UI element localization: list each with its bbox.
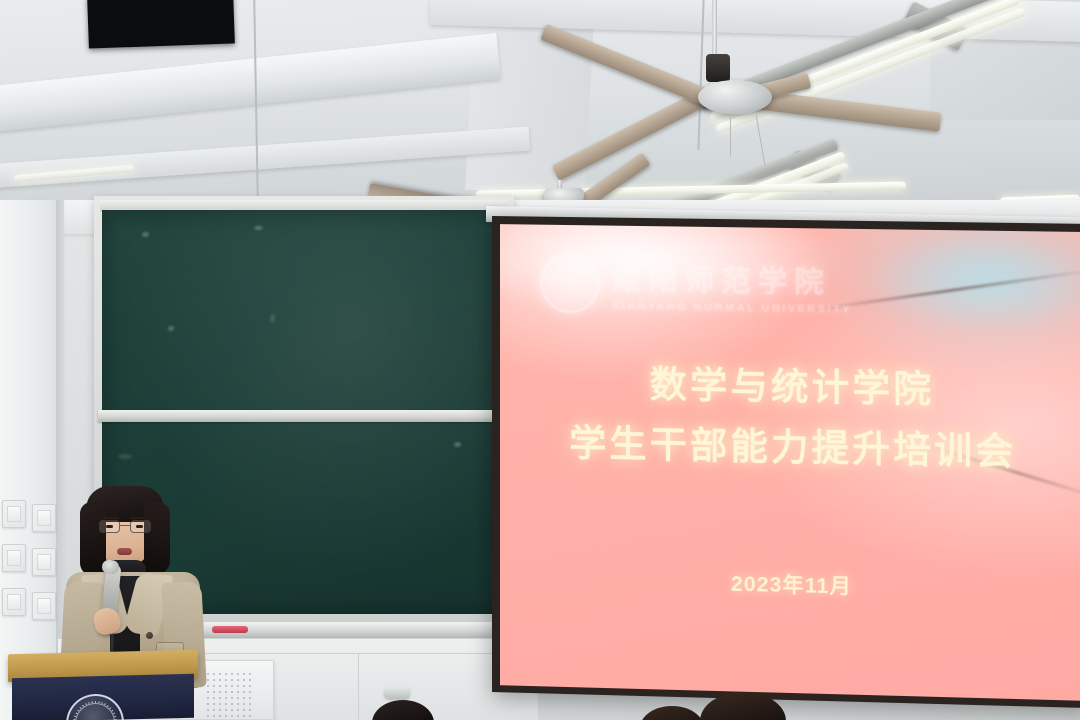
- switch-rocker[interactable]: [7, 506, 20, 523]
- light-switch-plate[interactable]: [2, 500, 26, 528]
- slide-title-block: 数学与统计学院 学生干部能力提升培训会: [500, 352, 1080, 484]
- screen-glare: [862, 229, 1080, 336]
- ceiling-mounted-dark-panel: [87, 0, 235, 49]
- slide-title-line-1: 数学与统计学院: [500, 352, 1080, 423]
- seal-ring-detail: [73, 700, 117, 720]
- university-seal-icon: [540, 253, 600, 314]
- slide-date: 2023年11月: [500, 562, 1080, 606]
- eye-left: [106, 525, 113, 528]
- fan-down-rod: [712, 0, 717, 58]
- institution-name-cn: 咸阳师范学院: [612, 256, 852, 302]
- blackboard-middle-rail: [98, 410, 510, 422]
- institution-name-en: XIANYANG NORMAL UNIVERSITY: [612, 300, 852, 316]
- switch-rocker[interactable]: [7, 550, 20, 567]
- fan-motor-housing: [698, 80, 772, 114]
- switch-rocker[interactable]: [7, 594, 20, 611]
- presentation-slide: 咸阳师范学院 XIANYANG NORMAL UNIVERSITY 数学与统计学…: [500, 224, 1080, 701]
- eyebrow-right: [130, 517, 146, 519]
- light-switch-plate[interactable]: [32, 504, 56, 532]
- fan-pull-chain: [730, 114, 731, 156]
- mouth: [117, 548, 132, 555]
- switch-rocker[interactable]: [37, 554, 50, 571]
- light-switch-plate[interactable]: [2, 588, 26, 616]
- fan-hub: [706, 54, 730, 82]
- light-switch-plate[interactable]: [2, 544, 26, 572]
- wall-left-face: [0, 200, 64, 720]
- projector-screen: 咸阳师范学院 XIANYANG NORMAL UNIVERSITY 数学与统计学…: [492, 216, 1080, 708]
- chalk-eraser[interactable]: [212, 626, 248, 633]
- classroom-presentation-photo: 咸阳师范学院 XIANYANG NORMAL UNIVERSITY 数学与统计学…: [0, 0, 1080, 720]
- ceiling-beam: [0, 33, 501, 133]
- eye-right: [136, 525, 143, 528]
- light-switch-plate[interactable]: [32, 592, 56, 620]
- switch-rocker[interactable]: [37, 598, 50, 615]
- switch-rocker[interactable]: [37, 510, 50, 527]
- slide-title-line-2: 学生干部能力提升培训会: [500, 412, 1080, 484]
- ceiling-beam: [0, 126, 530, 189]
- institution-logo: 咸阳师范学院 XIANYANG NORMAL UNIVERSITY: [540, 253, 852, 318]
- wall-mounted-cylinder: [384, 686, 410, 699]
- speaker-grille: [205, 671, 251, 719]
- eyebrow-left: [103, 517, 119, 519]
- coat-button: [146, 632, 153, 639]
- glasses-bridge: [120, 525, 130, 526]
- hair-right: [144, 502, 170, 574]
- light-switch-plate[interactable]: [32, 548, 56, 576]
- institution-logo-text: 咸阳师范学院 XIANYANG NORMAL UNIVERSITY: [612, 256, 852, 316]
